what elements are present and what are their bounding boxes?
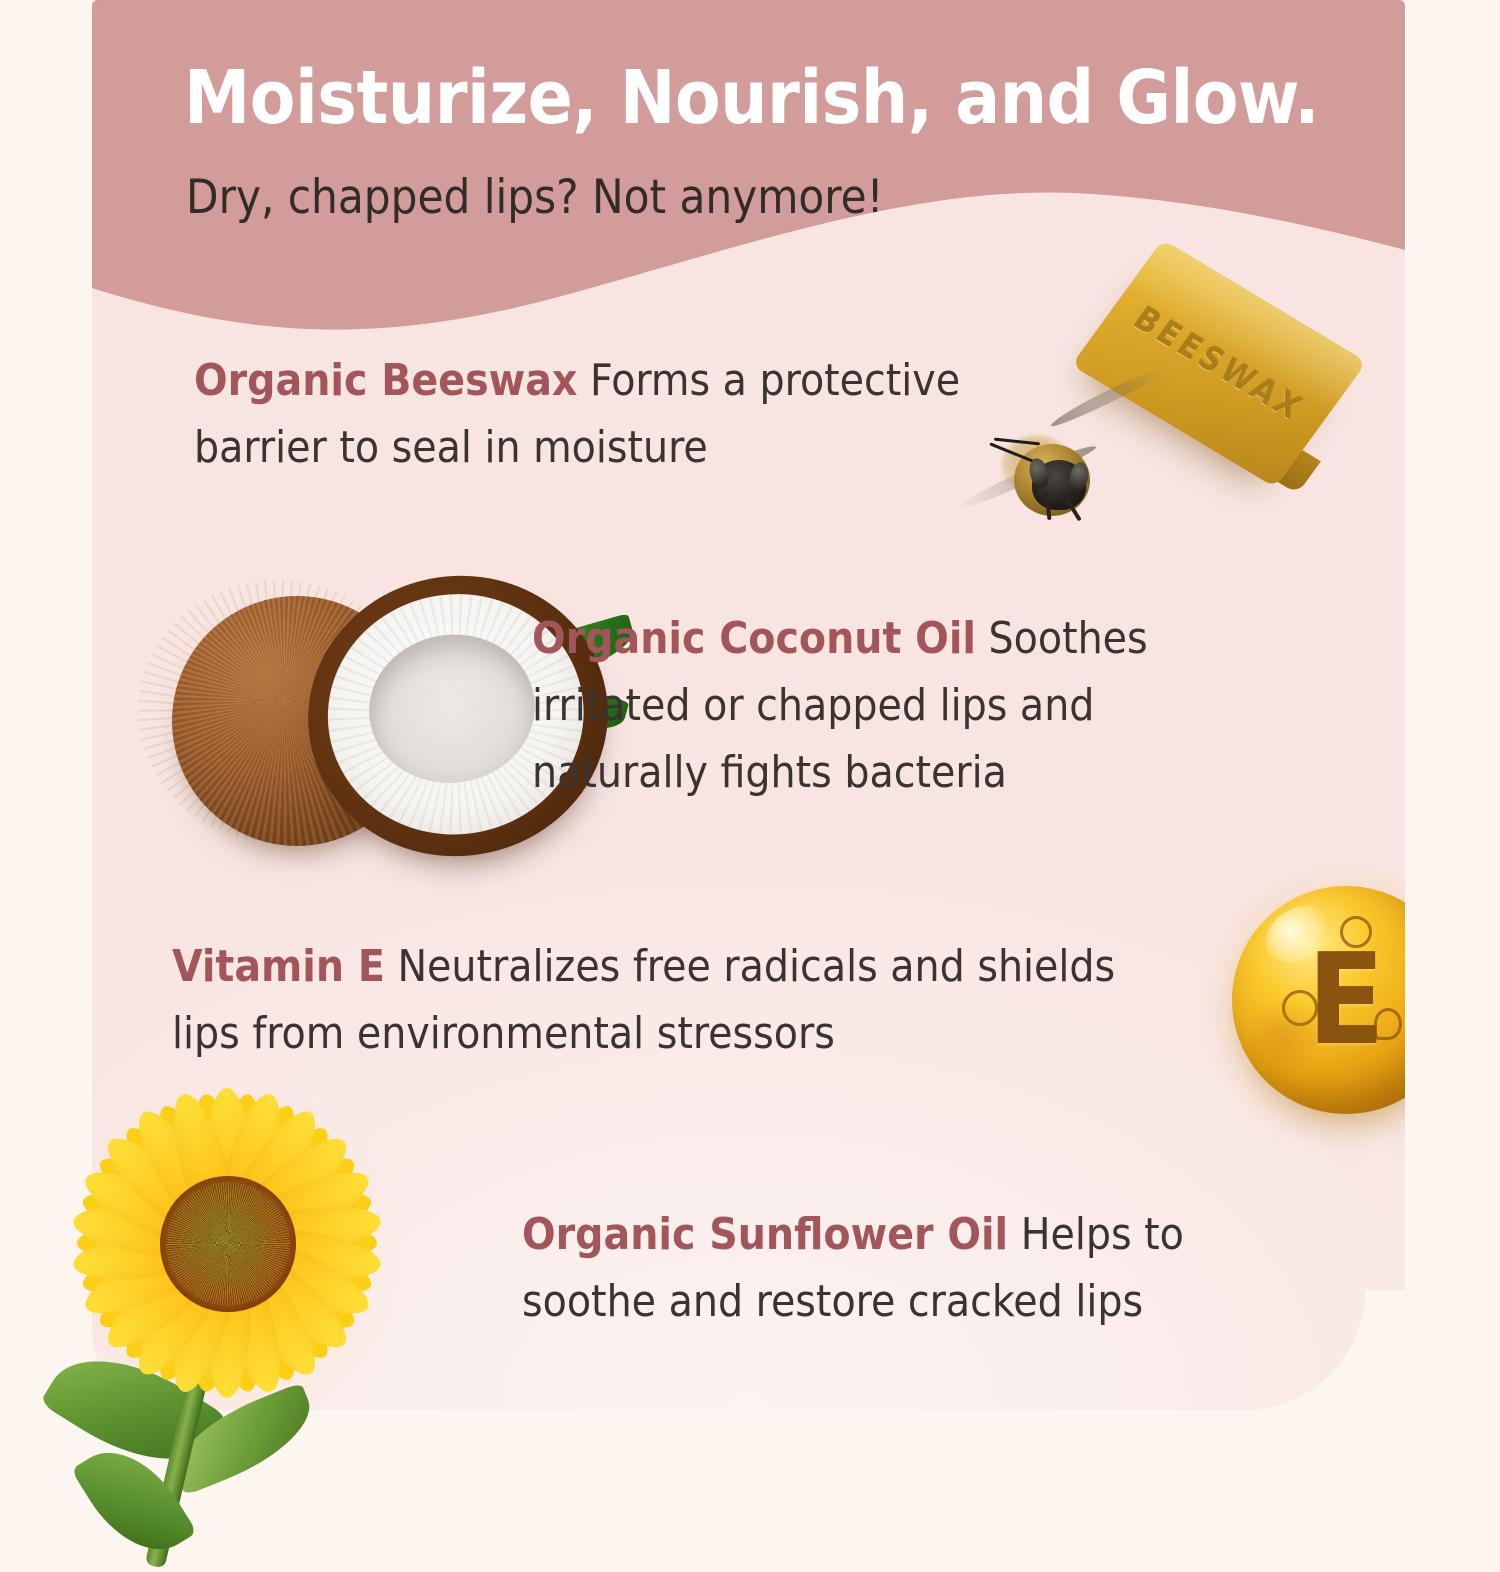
vitamin-e-shadow-spot [1250,994,1316,1080]
page-title: Moisturize, Nourish, and Glow. [184,60,1364,138]
card-corner-bottom-right [1245,1290,1415,1420]
ingredient-sunflower-name: Organic Sunflower Oil [522,1209,1008,1260]
ingredient-beeswax: Organic Beeswax Forms a protective barri… [194,348,1074,482]
vitamin-e-bubble-top [1340,916,1372,948]
coconut-cavity [359,624,544,794]
ingredient-beeswax-name: Organic Beeswax [194,355,577,406]
sunflower-image [18,1072,448,1500]
vitamin-e-droplet-image: E [1220,878,1405,1128]
sunflower-center-disc [160,1176,296,1312]
ingredient-vitamin-e-name: Vitamin E [172,941,385,992]
infographic-canvas: Moisturize, Nourish, and Glow. Dry, chap… [0,0,1500,1500]
ingredient-coconut-name: Organic Coconut Oil [532,613,976,664]
ingredient-coconut: Organic Coconut Oil Soothes irritated or… [532,606,1262,807]
vitamin-e-bubble-right [1374,1008,1402,1040]
ingredient-vitamin-e: Vitamin E Neutralizes free radicals and … [172,934,1142,1068]
ingredient-sunflower: Organic Sunflower Oil Helps to soothe an… [522,1202,1282,1336]
